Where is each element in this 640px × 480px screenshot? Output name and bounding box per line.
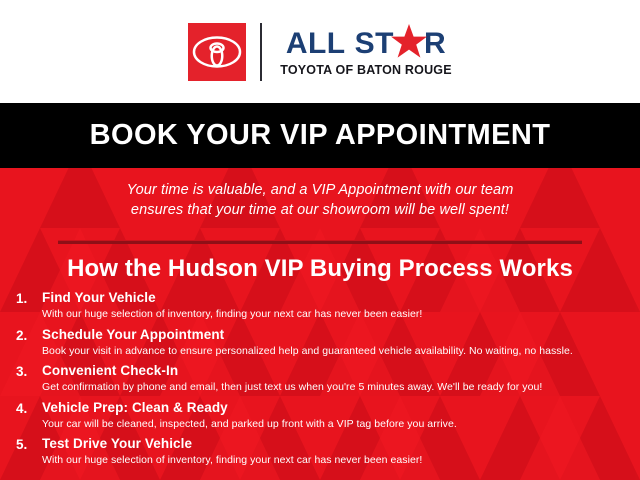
list-item: 4. Vehicle Prep: Clean & Ready Your car … (0, 400, 640, 431)
step-title: Vehicle Prep: Clean & Ready (42, 400, 628, 416)
step-number: 4. (16, 400, 42, 417)
allstar-top-line: ALL ST R (286, 27, 446, 61)
step-body: Test Drive Your Vehicle With our huge se… (42, 436, 628, 467)
list-item: 5. Test Drive Your Vehicle With our huge… (0, 436, 640, 467)
step-title: Schedule Your Appointment (42, 327, 628, 343)
intro-text: Your time is valuable, and a VIP Appoint… (0, 180, 640, 220)
step-body: Find Your Vehicle With our huge selectio… (42, 290, 628, 321)
promo-page: ALL ST R TOYOTA OF BATON ROUGE BOOK YOUR… (0, 0, 640, 480)
logo-lockup[interactable]: ALL ST R TOYOTA OF BATON ROUGE (188, 21, 452, 83)
step-number: 3. (16, 363, 42, 380)
section-heading: How the Hudson VIP Buying Process Works (0, 255, 640, 283)
step-number: 5. (16, 436, 42, 453)
intro-line-2: ensures that your time at our showroom w… (0, 200, 640, 220)
step-description: Your car will be cleaned, inspected, and… (42, 417, 628, 431)
intro-line-1: Your time is valuable, and a VIP Appoint… (0, 180, 640, 200)
brand-word-st: ST (355, 27, 394, 61)
step-title: Test Drive Your Vehicle (42, 436, 628, 452)
process-content: Your time is valuable, and a VIP Appoint… (0, 168, 640, 480)
step-description: Book your visit in advance to ensure per… (42, 344, 628, 358)
vertical-divider-icon (260, 23, 262, 81)
step-number: 1. (16, 290, 42, 307)
step-title: Find Your Vehicle (42, 290, 628, 306)
step-title: Convenient Check-In (42, 363, 628, 379)
list-item: 3. Convenient Check-In Get confirmation … (0, 363, 640, 394)
step-body: Vehicle Prep: Clean & Ready Your car wil… (42, 400, 628, 431)
dealer-logo-header: ALL ST R TOYOTA OF BATON ROUGE (0, 0, 640, 103)
brand-word-all: ALL (286, 27, 346, 61)
list-item: 2. Schedule Your Appointment Book your v… (0, 327, 640, 358)
horizontal-divider (58, 240, 582, 244)
step-body: Convenient Check-In Get confirmation by … (42, 363, 628, 394)
headline-banner: BOOK YOUR VIP APPOINTMENT (0, 103, 640, 168)
list-item: 1. Find Your Vehicle With our huge selec… (0, 290, 640, 321)
dealer-subtitle: TOYOTA OF BATON ROUGE (280, 63, 452, 77)
page-title: BOOK YOUR VIP APPOINTMENT (90, 119, 551, 152)
step-description: With our huge selection of inventory, fi… (42, 453, 628, 467)
process-section: Your time is valuable, and a VIP Appoint… (0, 168, 640, 480)
red-star-icon (394, 27, 424, 61)
process-steps-list: 1. Find Your Vehicle With our huge selec… (0, 290, 640, 473)
toyota-emblem-icon (188, 23, 246, 81)
step-description: With our huge selection of inventory, fi… (42, 307, 628, 321)
step-description: Get confirmation by phone and email, the… (42, 380, 628, 394)
step-body: Schedule Your Appointment Book your visi… (42, 327, 628, 358)
step-number: 2. (16, 327, 42, 344)
allstar-wordmark: ALL ST R TOYOTA OF BATON ROUGE (280, 27, 452, 77)
